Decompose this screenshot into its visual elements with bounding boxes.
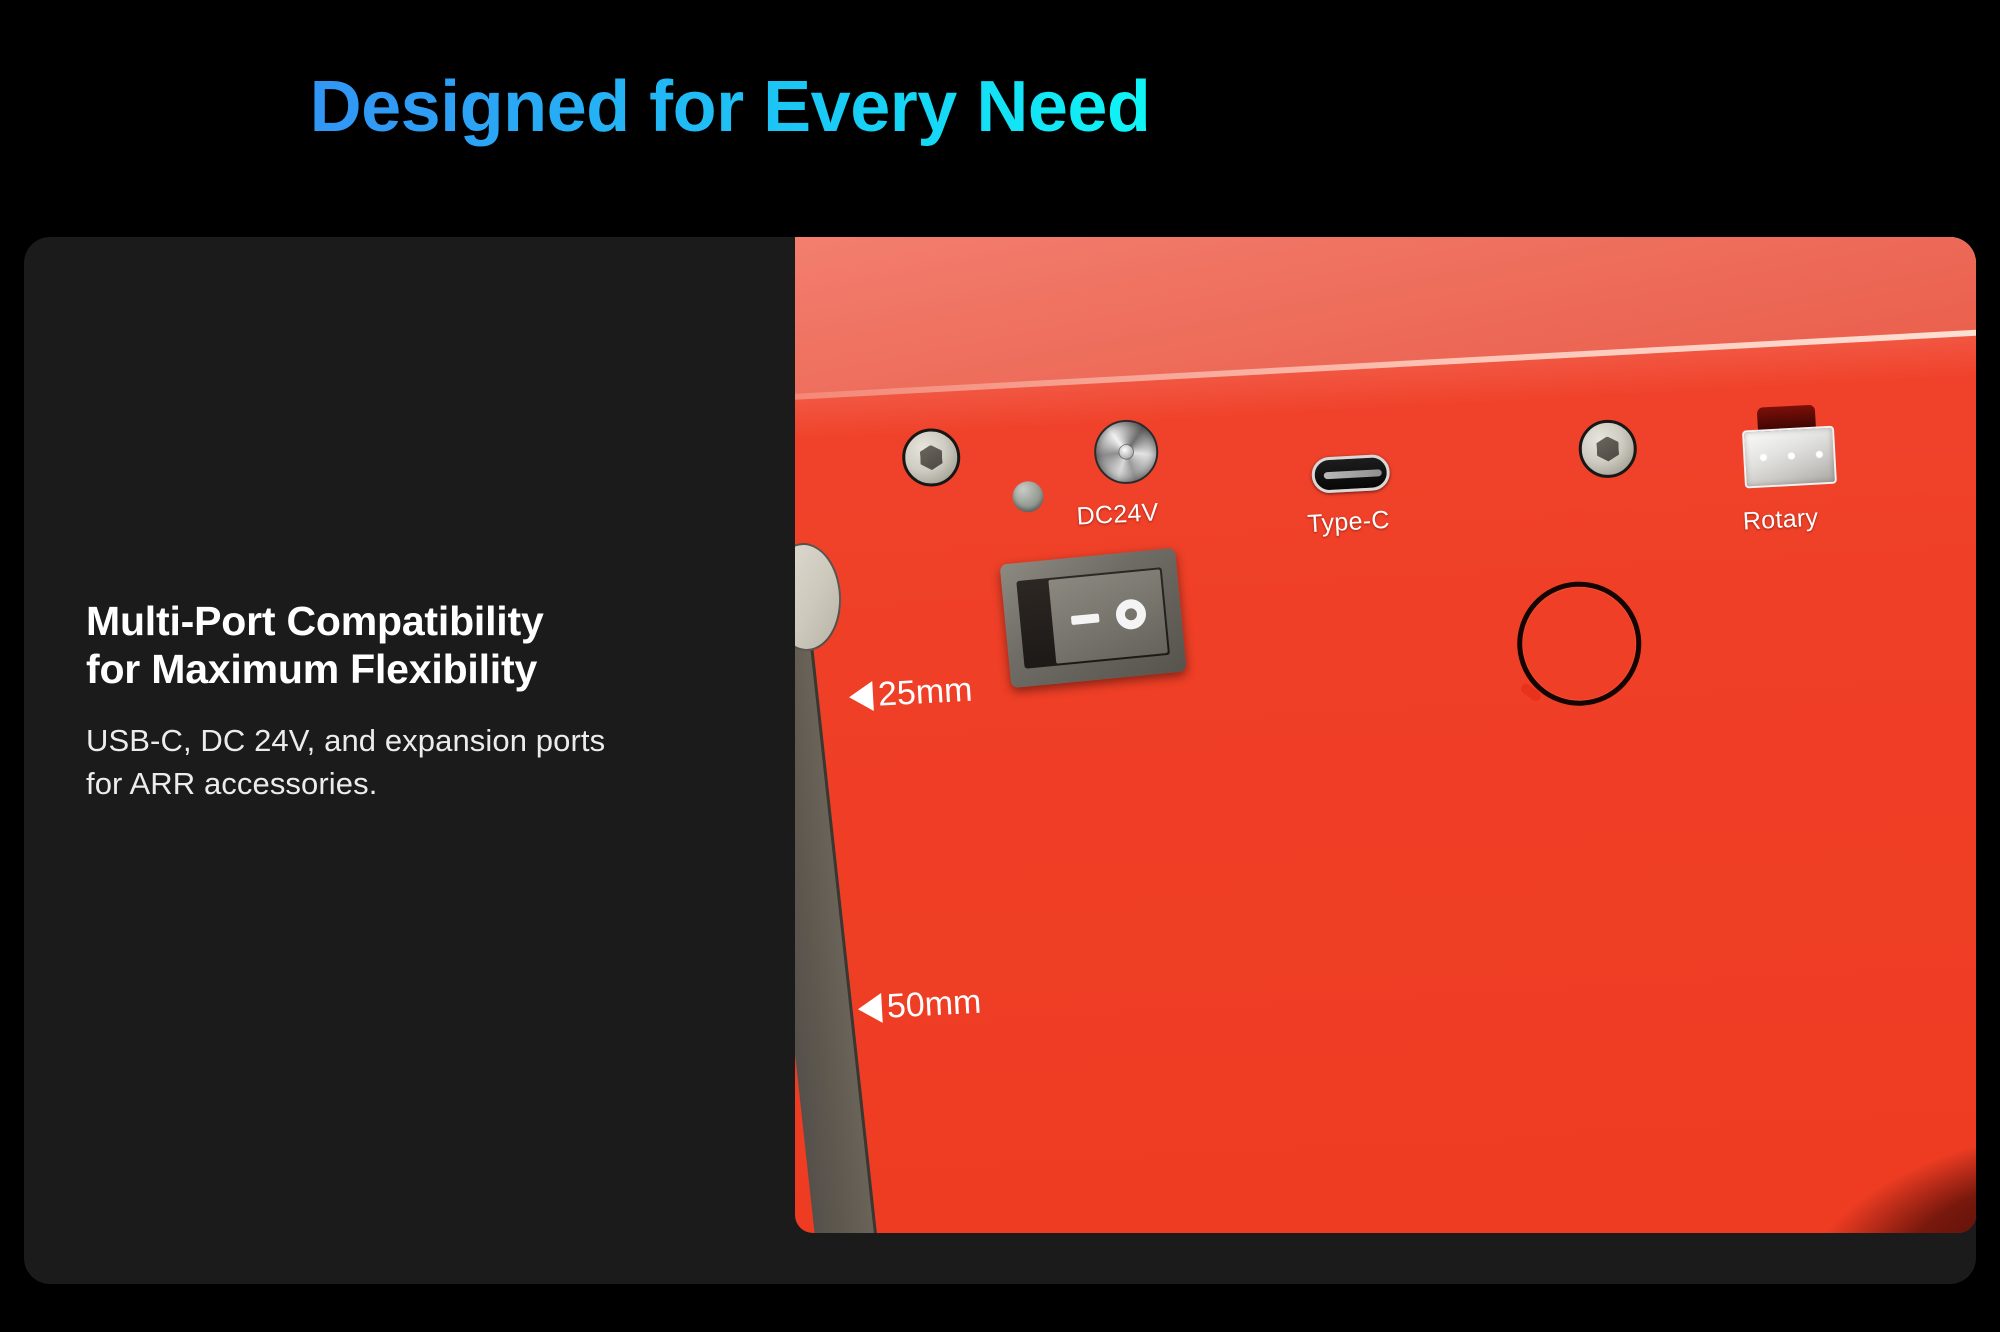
feature-body: USB-C, DC 24V, and expansion ports for A… xyxy=(86,720,766,806)
switch-off-mark-icon xyxy=(1114,598,1147,631)
typec-label: Type-C xyxy=(1307,506,1391,539)
rocker-well xyxy=(1016,567,1170,669)
product-photo: DC24V Type-C Rotary xyxy=(795,237,1976,1233)
page-root: Designed for Every Need Multi-Port Compa… xyxy=(0,0,2000,1332)
rotary-housing xyxy=(1742,426,1837,489)
measure-50mm-label: 50mm xyxy=(886,983,982,1027)
dc-barrel-jack-icon[interactable] xyxy=(1093,418,1160,485)
usb-type-c-port-icon[interactable] xyxy=(1311,454,1391,494)
measure-25mm-label: 25mm xyxy=(877,671,973,715)
left-arrow-icon xyxy=(848,680,874,711)
indicator-led-icon xyxy=(1012,480,1045,513)
measure-25mm: 25mm xyxy=(848,671,973,717)
feature-heading-line-1: Multi-Port Compatibility xyxy=(86,598,544,644)
rocker-paddle[interactable] xyxy=(1048,569,1167,663)
hex-screw-icon xyxy=(901,427,962,488)
power-rocker-switch[interactable] xyxy=(1000,548,1187,688)
rotary-connector-icon[interactable] xyxy=(1742,422,1837,489)
page-title-text: Designed for Every Need xyxy=(310,67,1151,147)
feature-body-line-2: for ARR accessories. xyxy=(86,766,377,801)
circular-knockout-icon xyxy=(1514,578,1645,709)
panel-shadow xyxy=(1793,1115,1976,1233)
feature-heading: Multi-Port Compatibility for Maximum Fle… xyxy=(86,597,766,694)
feature-copy: Multi-Port Compatibility for Maximum Fle… xyxy=(86,597,766,805)
device-body: DC24V Type-C Rotary xyxy=(795,237,1976,1233)
dc24v-label: DC24V xyxy=(1076,498,1160,531)
hex-screw-icon xyxy=(1577,418,1638,479)
left-arrow-icon xyxy=(857,992,883,1023)
page-title: Designed for Every Need xyxy=(0,66,1460,148)
device-front-panel: DC24V Type-C Rotary xyxy=(795,331,1976,1233)
feature-heading-line-2: for Maximum Flexibility xyxy=(86,646,537,692)
feature-card: Multi-Port Compatibility for Maximum Fle… xyxy=(24,237,1976,1284)
feature-body-line-1: USB-C, DC 24V, and expansion ports xyxy=(86,723,605,758)
measure-50mm: 50mm xyxy=(857,983,982,1029)
rotary-label: Rotary xyxy=(1742,504,1819,537)
switch-on-mark-icon xyxy=(1070,613,1099,625)
